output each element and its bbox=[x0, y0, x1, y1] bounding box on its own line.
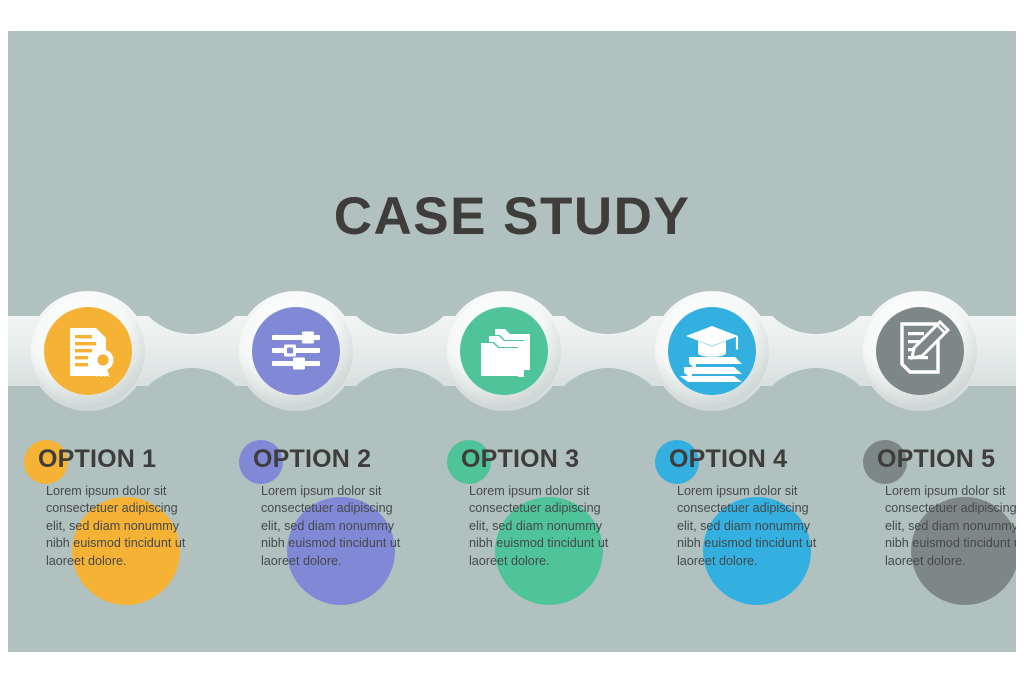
option-body-4: Lorem ipsum dolor sit consectetuer adipi… bbox=[677, 483, 827, 570]
option-item-2[interactable]: OPTION 2 Lorem ipsum dolor sit consectet… bbox=[239, 431, 447, 591]
sliders-settings-icon bbox=[272, 332, 320, 370]
option-item-5[interactable]: OPTION 5 Lorem ipsum dolor sit consectet… bbox=[863, 431, 1016, 591]
step-node-4[interactable] bbox=[668, 307, 756, 395]
page-title: CASE STUDY bbox=[8, 186, 1016, 247]
option-item-3[interactable]: OPTION 3 Lorem ipsum dolor sit consectet… bbox=[447, 431, 655, 591]
option-body-3: Lorem ipsum dolor sit consectetuer adipi… bbox=[469, 483, 619, 570]
step-node-3[interactable] bbox=[460, 307, 548, 395]
option-item-1[interactable]: OPTION 1 Lorem ipsum dolor sit consectet… bbox=[24, 431, 232, 591]
option-title-3: OPTION 3 bbox=[461, 445, 579, 474]
option-item-4[interactable]: OPTION 4 Lorem ipsum dolor sit consectet… bbox=[655, 431, 863, 591]
step-node-5[interactable] bbox=[876, 307, 964, 395]
step-node-2[interactable] bbox=[252, 307, 340, 395]
infographic-canvas: CASE STUDY bbox=[8, 31, 1016, 652]
option-title-5: OPTION 5 bbox=[877, 445, 995, 474]
option-body-5: Lorem ipsum dolor sit consectetuer adipi… bbox=[885, 483, 1016, 570]
option-title-4: OPTION 4 bbox=[669, 445, 787, 474]
option-body-2: Lorem ipsum dolor sit consectetuer adipi… bbox=[261, 483, 411, 570]
option-title-2: OPTION 2 bbox=[253, 445, 371, 474]
option-body-1: Lorem ipsum dolor sit consectetuer adipi… bbox=[46, 483, 196, 570]
infographic-frame: CASE STUDY bbox=[0, 0, 1024, 683]
option-title-1: OPTION 1 bbox=[38, 445, 156, 474]
step-chain bbox=[8, 286, 1016, 416]
step-node-1[interactable] bbox=[44, 307, 132, 395]
option-list: OPTION 1 Lorem ipsum dolor sit consectet… bbox=[8, 431, 1016, 611]
